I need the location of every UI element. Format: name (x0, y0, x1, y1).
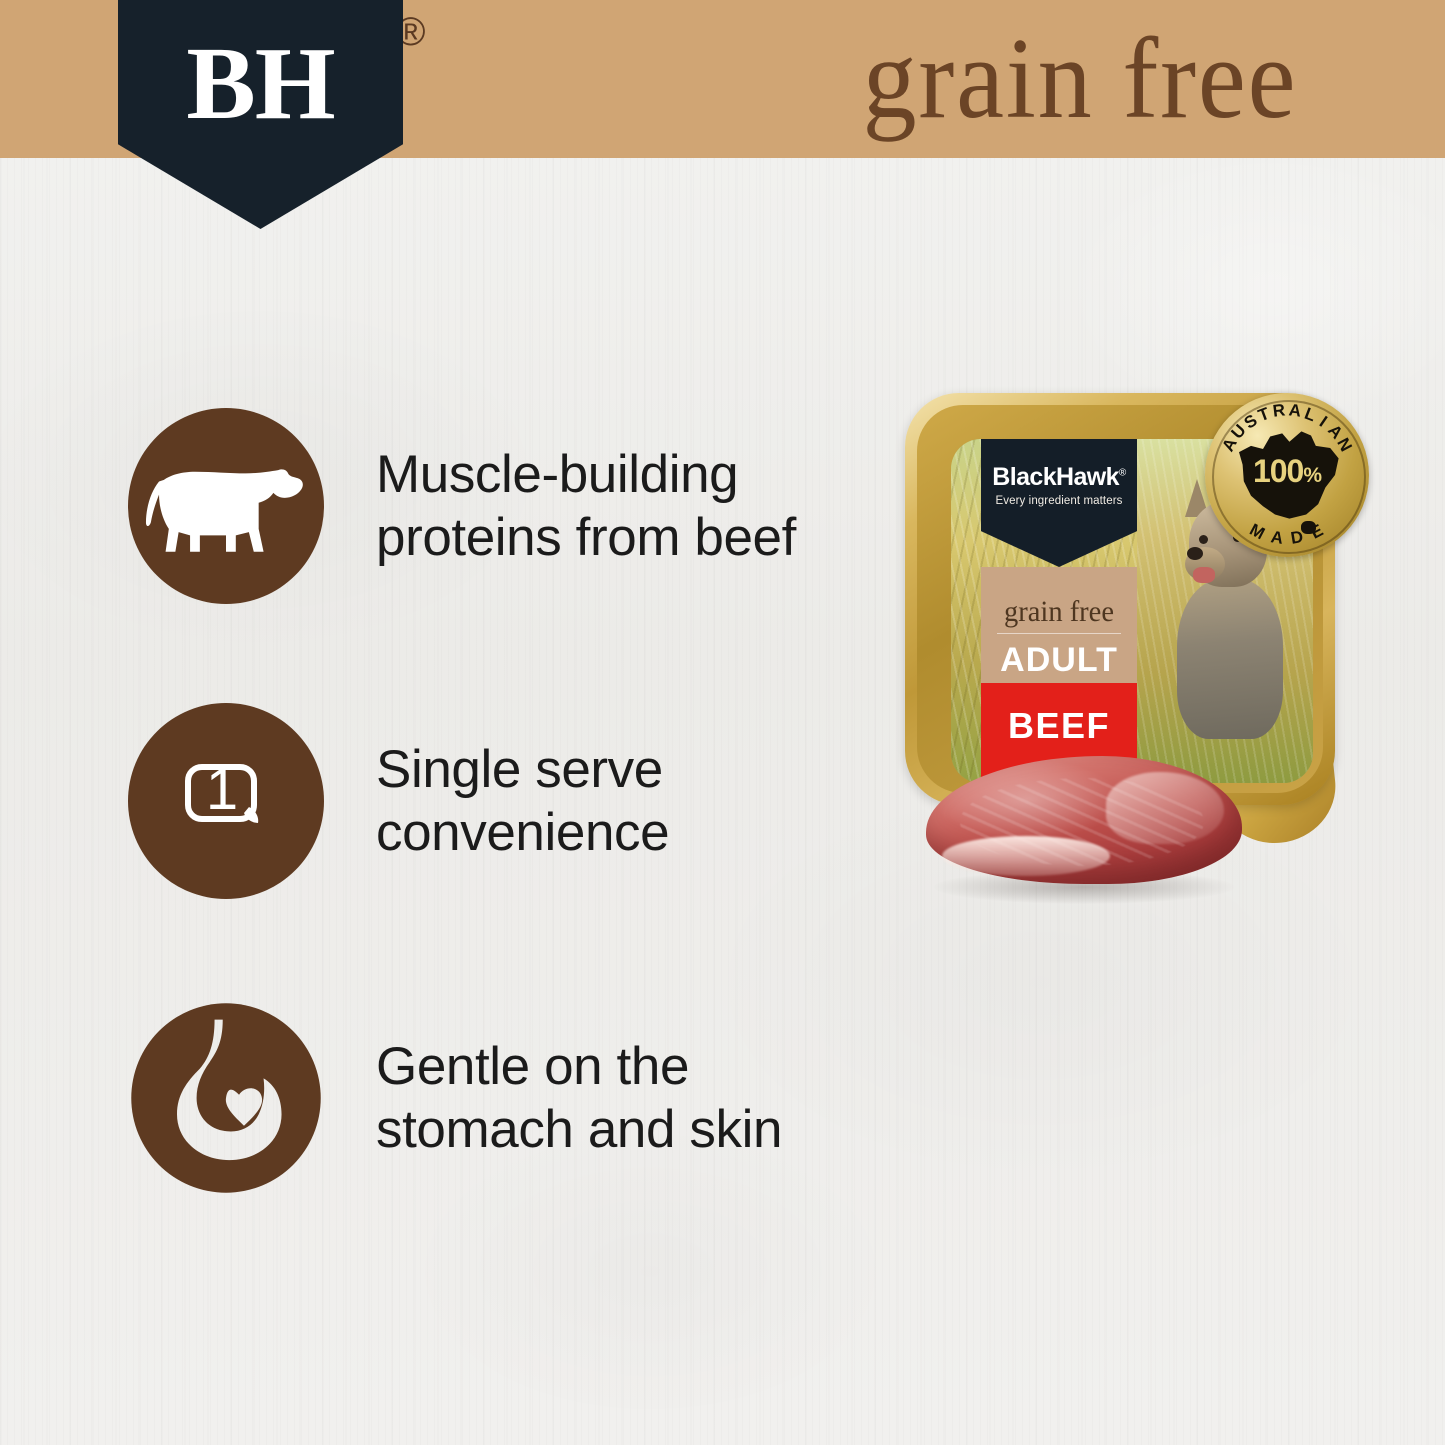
badge-percent-number: 100 (1253, 453, 1303, 489)
dog-tongue (1193, 567, 1215, 583)
raw-beef-cut-image (920, 750, 1250, 910)
feature-label-digestion: Gentle on the stomach and skin (376, 1035, 782, 1161)
australian-made-badge: AUSTRALIAN MADE 100% (1205, 393, 1369, 557)
tray-life-stage-text: ADULT (981, 641, 1137, 680)
tray-variant-panel: grain free ADULT (981, 567, 1137, 683)
feature-label-digestion-line1: Gentle on the (376, 1035, 782, 1098)
feature-label-protein-line2: proteins from beef (376, 506, 796, 569)
tasmania-icon (1301, 521, 1316, 534)
tray-tagline: Every ingredient matters (981, 495, 1137, 507)
feature-label-single-serve-line1: Single serve (376, 738, 669, 801)
feature-label-digestion-line2: stomach and skin (376, 1098, 782, 1161)
tray-label-divider (997, 633, 1121, 634)
tray-brand-name-text: BlackHawk (992, 463, 1119, 491)
beef-fat-marbling-lower (942, 836, 1110, 876)
banner-grain-free-title: grain free (810, 4, 1349, 154)
tray-grain-free-text: grain free (985, 595, 1133, 629)
tray-brand-registered-icon: ® (1119, 468, 1126, 479)
feature-item-protein: Muscle-building proteins from beef (128, 408, 796, 604)
cow-icon (128, 408, 324, 604)
tray-label-column: BlackHawk® Every ingredient matters grai… (981, 439, 1137, 783)
feature-item-single-serve: 1 Single serve convenience (128, 703, 669, 899)
single-serve-number: 1 (206, 757, 238, 822)
tray-brand-name: BlackHawk® (981, 463, 1137, 492)
brand-logo-initials: BH (118, 18, 403, 148)
feature-label-single-serve-line2: convenience (376, 801, 669, 864)
feature-label-protein: Muscle-building proteins from beef (376, 443, 796, 569)
dog-eye-left (1199, 535, 1208, 544)
tray-brand-panel: BlackHawk® Every ingredient matters (981, 439, 1137, 567)
dog-body (1177, 579, 1283, 739)
tray-flavour-text: BEEF (981, 705, 1137, 747)
stomach-heart-icon (128, 1000, 324, 1196)
badge-percent-symbol: % (1303, 464, 1321, 487)
badge-percent-text: 100% (1227, 453, 1347, 490)
feature-label-protein-line1: Muscle-building (376, 443, 796, 506)
single-serve-tray-icon: 1 (128, 703, 324, 899)
feature-label-single-serve: Single serve convenience (376, 738, 669, 864)
dog-nose (1187, 547, 1203, 560)
feature-item-digestion: Gentle on the stomach and skin (128, 1000, 782, 1196)
